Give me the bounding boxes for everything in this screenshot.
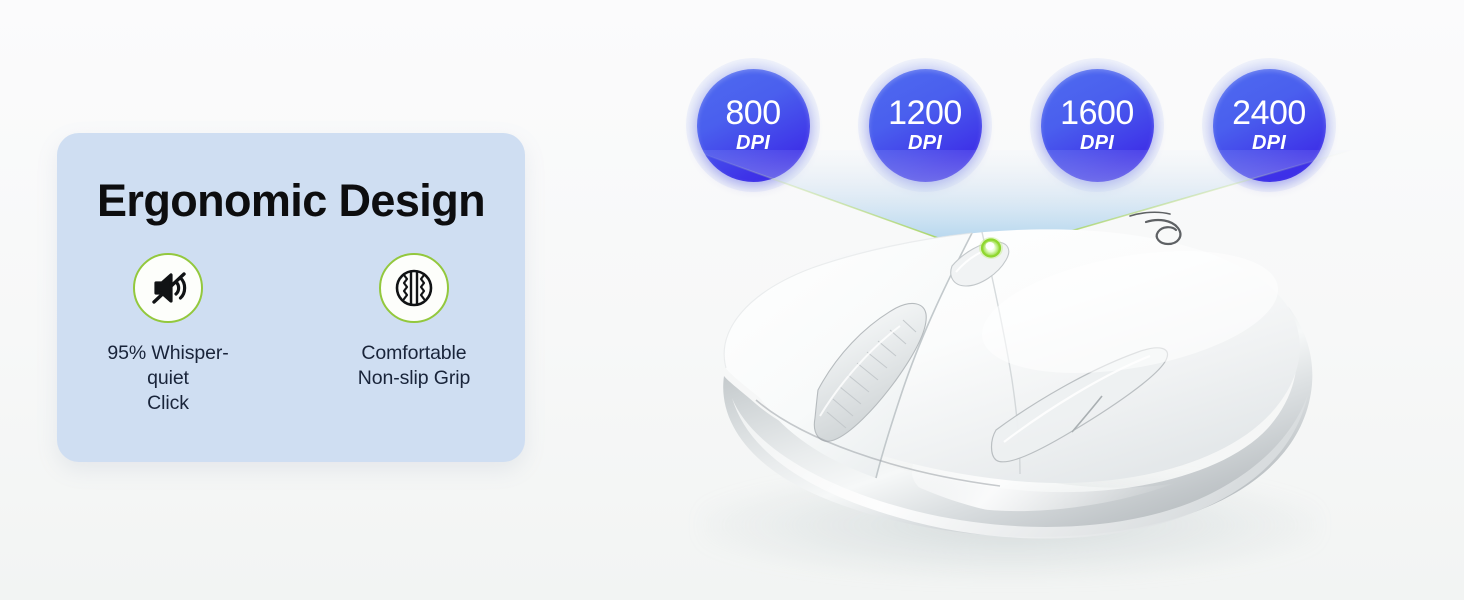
feature-list: 95% Whisper-quiet Click Comfortable <box>57 253 525 416</box>
icon-ring <box>133 253 203 323</box>
dpi-badge-1600[interactable]: 1600 DPI <box>1030 58 1164 192</box>
dpi-value: 2400 <box>1232 96 1306 130</box>
feature-caption-line1: Comfortable <box>358 341 470 366</box>
dpi-unit-label: DPI <box>1252 132 1286 154</box>
dpi-badge-800[interactable]: 800 DPI <box>686 58 820 192</box>
feature-caption-line2: Click <box>88 391 248 416</box>
dpi-value: 800 <box>725 96 780 130</box>
product-feature-banner: 800 DPI 1200 DPI 1600 DPI 2400 DPI Ergon… <box>0 0 1464 600</box>
dpi-value: 1200 <box>888 96 962 130</box>
ergonomic-design-card: Ergonomic Design 95% Wh <box>57 133 525 462</box>
dpi-unit-label: DPI <box>736 132 770 154</box>
dpi-badge-core: 1200 DPI <box>869 69 982 182</box>
dpi-value: 1600 <box>1060 96 1134 130</box>
feature-whisper-quiet-click: 95% Whisper-quiet Click <box>88 253 248 416</box>
icon-ring <box>379 253 449 323</box>
feature-caption: Comfortable Non-slip Grip <box>358 341 470 391</box>
dpi-badge-1200[interactable]: 1200 DPI <box>858 58 992 192</box>
dpi-unit-label: DPI <box>908 132 942 154</box>
card-title: Ergonomic Design <box>57 175 525 227</box>
led-indicator <box>979 237 1003 259</box>
dpi-badge-core: 1600 DPI <box>1041 69 1154 182</box>
textured-grip-icon <box>392 266 436 310</box>
dpi-badge-core: 800 DPI <box>697 69 810 182</box>
wireless-mouse-product-image <box>660 180 1360 580</box>
feature-caption-line1: 95% Whisper-quiet <box>88 341 248 391</box>
feature-caption: 95% Whisper-quiet Click <box>88 341 248 416</box>
feature-non-slip-grip: Comfortable Non-slip Grip <box>334 253 494 416</box>
speaker-mute-icon <box>146 266 190 310</box>
dpi-unit-label: DPI <box>1080 132 1114 154</box>
dpi-badge-2400[interactable]: 2400 DPI <box>1202 58 1336 192</box>
feature-caption-line2: Non-slip Grip <box>358 366 470 391</box>
dpi-badge-core: 2400 DPI <box>1213 69 1326 182</box>
